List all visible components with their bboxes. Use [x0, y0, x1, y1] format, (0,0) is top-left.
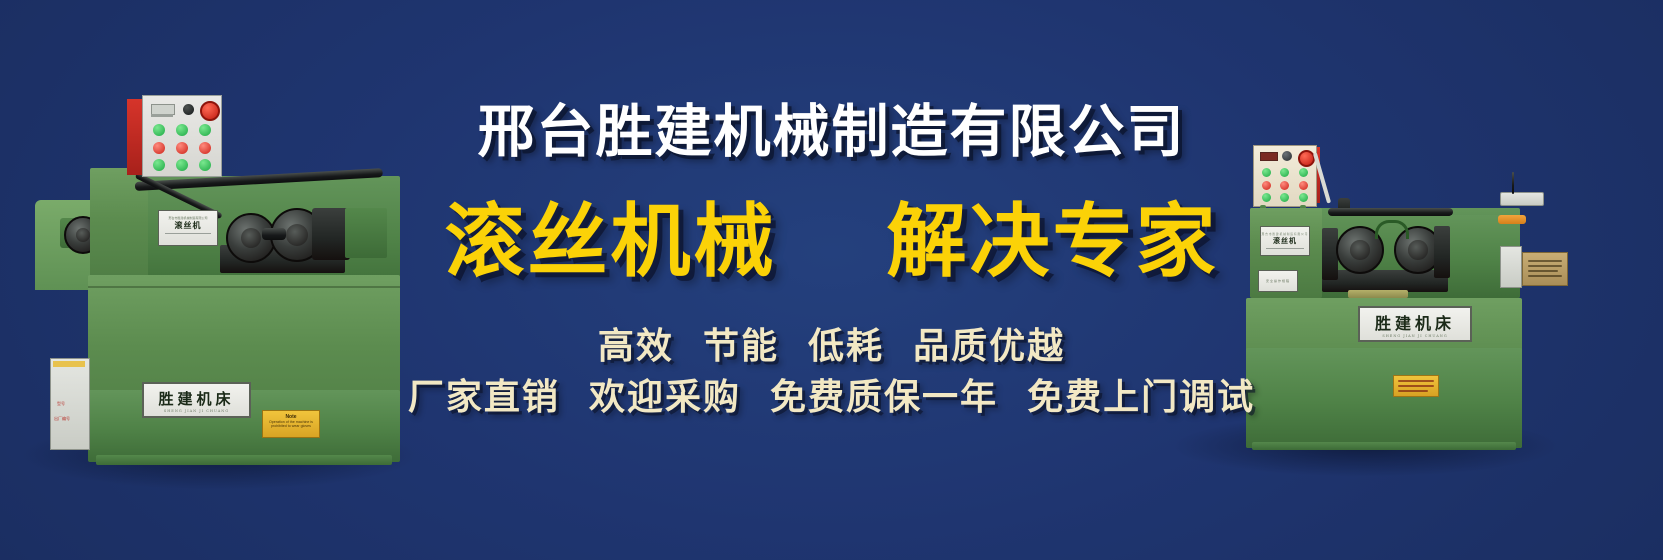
thread-rolling-machine-left: 邢台市胜建机械制造有限公司 滚丝机 型号 出厂编号 胜建机床 SHENG JIA…: [30, 90, 400, 470]
right-machine-emergency-stop[interactable]: [1298, 150, 1315, 167]
left-machine-button-r2c3[interactable]: [199, 142, 211, 154]
right-machine-lower-warning-plate: [1393, 375, 1439, 397]
left-machine-note-line2: prohibited to wear gloves: [263, 424, 319, 428]
right-machine-nameplate-main: 胜建机床: [1375, 310, 1455, 334]
left-machine-spec-divider: [165, 233, 211, 234]
left-machine-roller-shaft: [262, 228, 286, 240]
right-machine-control-panel[interactable]: [1253, 145, 1317, 207]
right-machine-coolant-manifold: [1498, 215, 1526, 224]
left-machine-cabinet-label-bottom: 出厂编号: [54, 416, 70, 422]
right-machine-chip-tray: [1348, 290, 1408, 298]
right-machine-button-r3c1[interactable]: [1262, 193, 1271, 202]
left-machine-nameplate-main: 胜建机床: [158, 388, 234, 409]
thread-rolling-machine-right: 邢台市胜建机械制造有限公司 滚丝机 安全操作规程: [1170, 120, 1570, 460]
left-machine-selector-knob[interactable]: [183, 104, 194, 115]
right-machine-nameplate: 胜建机床 SHENG JIAN JI CHUANG: [1358, 306, 1472, 342]
right-machine-small-plate: 安全操作规程: [1258, 270, 1298, 292]
left-machine-spec-title: 滚丝机: [175, 220, 202, 231]
left-machine-base: [96, 455, 392, 465]
left-machine-panel-side: [127, 99, 142, 175]
right-machine-small-plate-text: 安全操作规程: [1266, 279, 1290, 283]
right-machine-body-lower: [1246, 348, 1522, 448]
right-machine-button-r1c2[interactable]: [1280, 168, 1289, 177]
left-machine-button-r2c1[interactable]: [153, 142, 165, 154]
left-machine-nameplate: 胜建机床 SHENG JIAN JI CHUANG: [142, 382, 251, 418]
left-machine-button-r2c2[interactable]: [176, 142, 188, 154]
promotional-banner: 邢台市胜建机械制造有限公司 滚丝机 型号 出厂编号 胜建机床 SHENG JIA…: [0, 0, 1663, 560]
left-machine-button-r1c2[interactable]: [176, 124, 188, 136]
left-machine-button-r3c3[interactable]: [199, 159, 211, 171]
right-machine-antenna: [1512, 172, 1514, 194]
right-machine-button-r2c1[interactable]: [1262, 181, 1271, 190]
right-machine-roller-base: [1322, 270, 1448, 292]
headline-right: 解决专家: [887, 195, 1219, 288]
right-machine-spec-plate: 邢台市胜建机械制造有限公司 滚丝机: [1260, 226, 1310, 256]
left-machine-spec-extra: [187, 236, 189, 240]
headline-left: 滚丝机械: [445, 195, 777, 288]
right-machine-base: [1252, 442, 1516, 450]
left-machine-spec-plate: 邢台市胜建机械制造有限公司 滚丝机: [158, 210, 218, 246]
left-machine-emergency-stop[interactable]: [200, 101, 220, 121]
right-machine-nameplate-pinyin: SHENG JIAN JI CHUANG: [1382, 334, 1447, 338]
left-machine-button-r1c1[interactable]: [153, 124, 165, 136]
right-machine-button-r1c3[interactable]: [1299, 168, 1308, 177]
right-machine-button-r2c2[interactable]: [1280, 181, 1289, 190]
right-machine-button-r2c3[interactable]: [1299, 181, 1308, 190]
left-machine-nameplate-pinyin: SHENG JIAN JI CHUANG: [164, 409, 229, 413]
left-machine-side-cabinet: 型号 出厂编号: [50, 358, 90, 450]
left-machine-note-plate: Note Operation of the machine is prohibi…: [262, 410, 320, 438]
right-machine-gauge-box: [1500, 246, 1522, 288]
right-machine-button-r3c2[interactable]: [1280, 193, 1289, 202]
left-machine-body-seam: [88, 286, 400, 288]
right-machine-warning-plate: [1522, 252, 1568, 286]
right-machine-button-r3c3[interactable]: [1299, 193, 1308, 202]
left-machine-button-r1c3[interactable]: [199, 124, 211, 136]
right-machine-spec-title: 滚丝机: [1273, 236, 1297, 246]
left-machine-tail-housing: [345, 208, 387, 258]
right-machine-spec-divider: [1266, 248, 1304, 249]
left-machine-button-r3c2[interactable]: [176, 159, 188, 171]
left-machine-control-panel[interactable]: [142, 95, 222, 177]
right-machine-top-rail: [1328, 208, 1453, 216]
left-machine-cabinet-top-strip: [53, 361, 85, 367]
right-machine-roller-link: [1375, 220, 1409, 239]
left-machine-cabinet-label-top: 型号: [57, 401, 65, 407]
right-machine-roller-guard-right: [1434, 226, 1450, 278]
right-machine-top-tray: [1500, 192, 1544, 206]
right-machine-selector-knob[interactable]: [1282, 151, 1292, 161]
right-machine-button-r1c1[interactable]: [1262, 168, 1271, 177]
left-machine-button-r3c1[interactable]: [153, 159, 165, 171]
